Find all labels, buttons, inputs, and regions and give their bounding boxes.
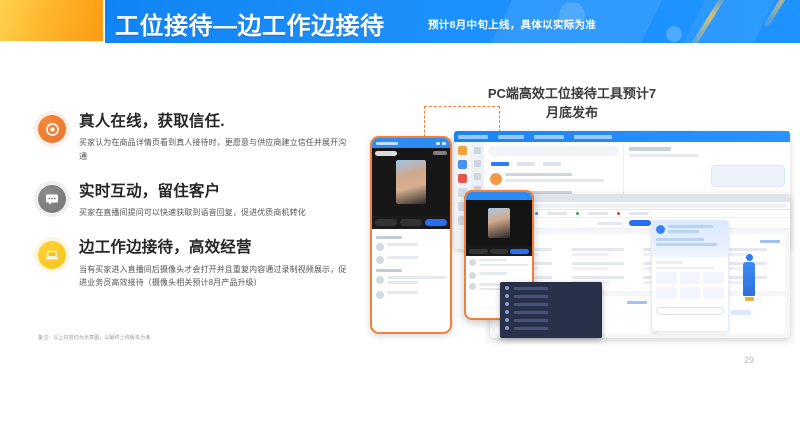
- profile-card-button[interactable]: [656, 307, 724, 315]
- browser-tabstrip: [490, 194, 790, 202]
- avatar: [376, 243, 384, 251]
- contact-name: [629, 147, 671, 151]
- stat-cell: [572, 262, 638, 272]
- topbar-item[interactable]: [458, 135, 488, 139]
- stat-tile: [680, 272, 701, 284]
- list-item[interactable]: [376, 276, 446, 286]
- action-button[interactable]: [469, 249, 488, 254]
- stat-tile: [656, 287, 677, 299]
- bookmark-label[interactable]: [547, 212, 567, 215]
- profile-card-body: [652, 257, 728, 303]
- avatar: [469, 283, 476, 290]
- primary-action-button[interactable]: [629, 220, 651, 226]
- rail-icon[interactable]: [474, 173, 481, 180]
- header-decor-dot-2: [666, 26, 682, 42]
- person-figure-icon: [742, 254, 756, 306]
- list-item[interactable]: [376, 243, 446, 251]
- action-button[interactable]: [375, 219, 397, 226]
- menu-item[interactable]: [505, 318, 597, 322]
- filter-chip[interactable]: [731, 310, 751, 315]
- phone-icon[interactable]: [436, 142, 440, 145]
- topbar-item[interactable]: [534, 135, 564, 139]
- bullet-icon: [505, 294, 509, 298]
- text-line: [505, 173, 572, 176]
- avatar: [469, 272, 476, 279]
- footnote: 备注：以上内容均为示意图，以最终上线版本为准: [38, 334, 150, 341]
- record-dot-icon: [38, 115, 66, 143]
- list-item[interactable]: [376, 256, 446, 264]
- feature-item-efficiency: 边工作边接待，高效经营 当有买家进入直播间后摄像头才会打开并且重复内容通过录制视…: [38, 238, 348, 289]
- profile-stat-grid: [656, 272, 724, 299]
- feature-body: 实时互动，留住客户 买家在直播间提问可以快速获取到语音回复，促进优质商机转化: [79, 182, 348, 220]
- bullet-icon: [505, 302, 509, 306]
- feature-desc: 当有买家进入直播间后摄像头才会打开并且重复内容通过录制视频展示，促进业务员高效接…: [79, 263, 348, 289]
- topbar-item[interactable]: [498, 135, 524, 139]
- feature-list: 真人在线，获取信任. 买家认为在商品详情页看到真人接待时，更愿意与供应商建立信任…: [38, 112, 348, 308]
- rail-icon[interactable]: [474, 147, 481, 154]
- avatar: [469, 259, 476, 266]
- text-line: [505, 179, 604, 182]
- stat-grid: [500, 248, 780, 286]
- nav-item[interactable]: [597, 222, 623, 225]
- tab[interactable]: [543, 162, 561, 166]
- stat-tile: [680, 287, 701, 299]
- feature-body: 边工作边接待，高效经营 当有买家进入直播间后摄像头才会打开并且重复内容通过录制视…: [79, 238, 348, 289]
- primary-action-button[interactable]: [510, 249, 529, 254]
- feature-desc: 买家在直播间提问可以快速获取到语音回复，促进优质商机转化: [79, 206, 348, 219]
- search-input[interactable]: [488, 146, 619, 156]
- bullet-icon: [505, 310, 509, 314]
- action-button[interactable]: [490, 249, 509, 254]
- live-video-area: [372, 148, 450, 216]
- card-more-link[interactable]: [627, 301, 647, 304]
- stat-tile: [656, 272, 677, 284]
- live-action-bar: [372, 216, 450, 229]
- phone-statusbar: [466, 192, 532, 200]
- profile-card-header: [652, 221, 728, 257]
- live-video-area: [466, 200, 532, 246]
- card-header: [500, 239, 780, 243]
- annotation-text: PC端高效工位接待工具预计7月底发布: [487, 85, 657, 123]
- rail-icon[interactable]: [458, 160, 467, 169]
- stat-cell: [572, 248, 638, 258]
- bookmark-label[interactable]: [588, 212, 608, 215]
- feature-desc: 买家认为在商品详情页看到真人接待时，更愿意与供应商建立信任并展开沟通: [79, 136, 348, 162]
- chat-bubble-icon: [38, 185, 66, 213]
- action-button[interactable]: [400, 219, 422, 226]
- chat-bubble: [711, 165, 785, 187]
- phone-statusbar: [372, 138, 450, 148]
- topbar-item[interactable]: [574, 135, 612, 139]
- avatar: [490, 173, 502, 185]
- tab[interactable]: [491, 162, 509, 166]
- section-label: [376, 269, 402, 272]
- list-item[interactable]: [469, 259, 529, 268]
- tab[interactable]: [517, 162, 535, 166]
- presenter-image: [396, 160, 426, 204]
- feature-item-interaction: 实时互动，留住客户 买家在直播间提问可以快速获取到语音回复，促进优质商机转化: [38, 182, 348, 220]
- list-item[interactable]: [488, 170, 619, 188]
- menu-item[interactable]: [505, 294, 597, 298]
- phone-mockup-back: [370, 136, 452, 334]
- desktop-topbar: [454, 131, 790, 142]
- bookmark-icon[interactable]: [535, 212, 538, 215]
- figure-body: [743, 262, 755, 296]
- figure-head: [746, 254, 753, 261]
- rail-icon[interactable]: [474, 160, 481, 167]
- contact-meta: [629, 154, 699, 157]
- rail-icon[interactable]: [458, 146, 467, 155]
- browser-address-bar[interactable]: [490, 202, 790, 210]
- bracket-top: [424, 106, 500, 107]
- page-title: 工位接待—边工作边接待: [115, 6, 385, 41]
- app-navbar: [490, 218, 790, 229]
- primary-action-button[interactable]: [425, 219, 447, 226]
- product-mockups: [370, 128, 790, 338]
- rail-icon[interactable]: [458, 174, 467, 183]
- card-more-link[interactable]: [760, 240, 780, 243]
- feature-item-trust: 真人在线，获取信任. 买家认为在商品详情页看到真人接待时，更愿意与供应商建立信任…: [38, 112, 348, 163]
- header-orange-block: [0, 0, 103, 41]
- menu-item[interactable]: [505, 310, 597, 314]
- stat-tile: [703, 272, 724, 284]
- live-action-bar: [466, 246, 532, 256]
- menu-item[interactable]: [505, 326, 597, 330]
- list-item[interactable]: [469, 272, 529, 279]
- laptop-icon: [38, 241, 66, 269]
- section-label: [376, 236, 402, 239]
- list-tabs: [488, 160, 619, 170]
- page-number: 29: [744, 355, 754, 365]
- phone-icon[interactable]: [442, 142, 446, 145]
- dropdown-menu: [500, 282, 602, 338]
- bookmark-label[interactable]: [629, 212, 649, 215]
- product-feed: [372, 229, 450, 308]
- viewer-count-badge: [433, 151, 447, 155]
- header-subtitle: 预计8月中旬上线，具体以实际为准: [428, 17, 596, 32]
- bullet-icon: [505, 318, 509, 322]
- bullet-icon: [505, 326, 509, 330]
- avatar: [376, 276, 384, 284]
- feature-title: 实时互动，留住客户: [79, 182, 348, 201]
- avatar: [376, 291, 384, 299]
- feature-title: 边工作边接待，高效经营: [79, 238, 348, 257]
- bookmarks-bar: [490, 210, 790, 218]
- menu-item[interactable]: [505, 286, 597, 290]
- slide-header: 工位接待—边工作边接待 预计8月中旬上线，具体以实际为准: [0, 0, 800, 48]
- profile-row: [656, 225, 724, 235]
- stat-tile: [703, 287, 724, 299]
- slide: 工位接待—边工作边接待 预计8月中旬上线，具体以实际为准 真人在线，获取信任. …: [0, 0, 800, 427]
- avatar: [656, 225, 665, 234]
- live-badge: [375, 151, 397, 156]
- url-input[interactable]: [507, 204, 787, 208]
- feature-body: 真人在线，获取信任. 买家认为在商品详情页看到真人接待时，更愿意与供应商建立信任…: [79, 112, 348, 163]
- figure-base: [745, 297, 754, 301]
- menu-item[interactable]: [505, 302, 597, 306]
- bullet-icon: [505, 286, 509, 290]
- list-item[interactable]: [376, 291, 446, 299]
- presenter-image: [488, 208, 510, 238]
- avatar: [376, 256, 384, 264]
- profile-card-panel: [651, 220, 729, 332]
- list-item-text: [505, 173, 617, 184]
- bookmark-icon[interactable]: [576, 212, 579, 215]
- feature-title: 真人在线，获取信任.: [79, 112, 348, 131]
- header-blue-banner: 工位接待—边工作边接待 预计8月中旬上线，具体以实际为准: [105, 0, 800, 43]
- bookmark-icon[interactable]: [617, 212, 620, 215]
- phone-title: [376, 142, 398, 145]
